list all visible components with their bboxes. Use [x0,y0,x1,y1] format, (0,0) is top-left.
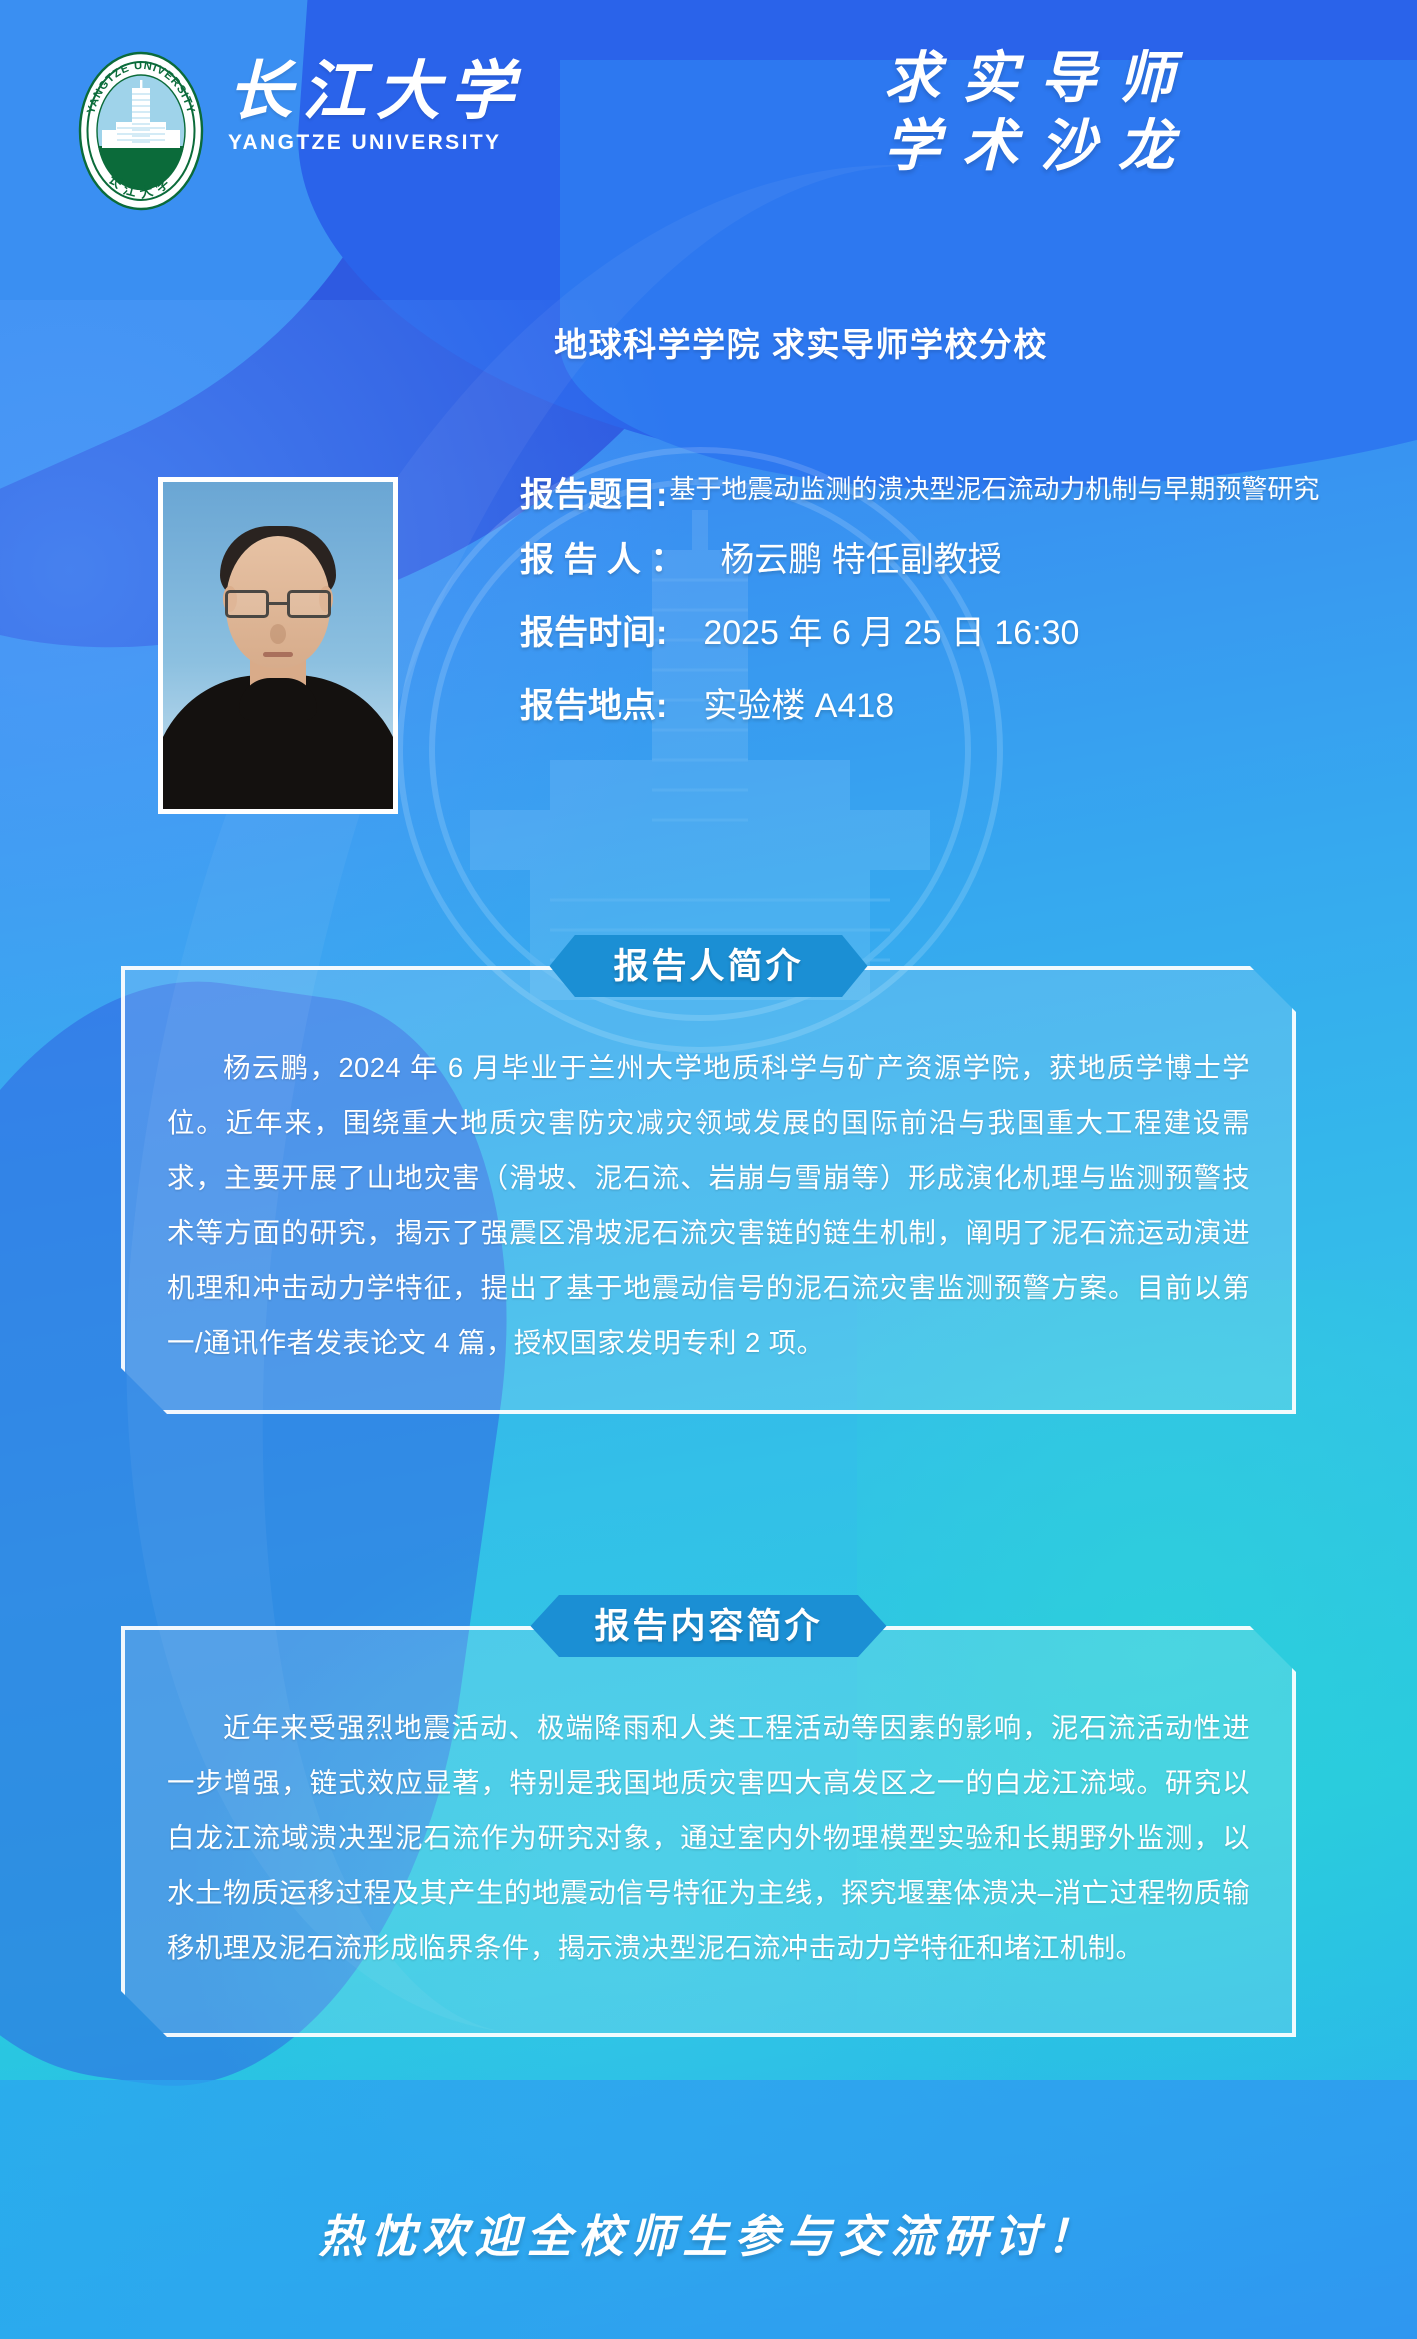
section-banner-speaker-bio: 报告人简介 [549,935,867,997]
portrait-mouth [263,652,293,657]
talk-title-label: 报告题目: [520,470,667,521]
time-label: 报告时间: [520,608,667,659]
poster-root: Y [0,0,1417,2339]
speaker-bio-text: 杨云鹏，2024 年 6 月毕业于兰州大学地质科学与矿产资源学院，获地质学博士学… [167,1040,1250,1370]
info-row-place: 报告地点: 实验楼 A418 [520,681,1380,732]
portrait-nose [270,624,286,644]
info-row-title: 报告题目: 基于地震动监测的溃决型泥石流动力机制与早期预警研究 [520,470,1380,521]
talk-info-block: 报告题目: 基于地震动监测的溃决型泥石流动力机制与早期预警研究 报 告 人 ： … [520,470,1380,754]
university-seal-icon: YANGTZE UNIVERSITY 长江大学 [76,50,206,212]
place-label: 报告地点: [520,681,667,732]
school-name-block: 长江大学 YANGTZE UNIVERSITY [228,58,588,155]
section-speaker-bio: 报告人简介 杨云鹏，2024 年 6 月毕业于兰州大学地质科学与矿产资源学院，获… [0,935,1417,1414]
talk-abstract-text: 近年来受强烈地震活动、极端降雨和人类工程活动等因素的影响，泥石流活动性进一步增强… [167,1700,1250,1975]
panel-speaker-bio: 杨云鹏，2024 年 6 月毕业于兰州大学地质科学与矿产资源学院，获地质学博士学… [121,966,1296,1414]
portrait-collar [239,678,317,720]
info-row-time: 报告时间: 2025 年 6 月 25 日 16:30 [520,608,1380,659]
section-talk-abstract: 报告内容简介 近年来受强烈地震活动、极端降雨和人类工程活动等因素的影响，泥石流活… [0,1595,1417,2037]
poster-header: YANGTZE UNIVERSITY 长江大学 长江大学 YANGTZE UNI… [0,0,1417,300]
talk-title-value: 基于地震动监测的溃决型泥石流动力机制与早期预警研究 [667,470,1319,506]
speaker-label: 报 告 人 ： [520,535,684,586]
section-banner-talk-abstract: 报告内容简介 [530,1595,886,1657]
info-row-speaker: 报 告 人 ： 杨云鹏 特任副教授 [520,535,1380,586]
speaker-value: 杨云鹏 特任副教授 [684,535,1001,586]
school-name-en: YANGTZE UNIVERSITY [228,131,588,155]
place-value: 实验楼 A418 [667,681,894,732]
salon-title-block: 求实导师 学术沙龙 [840,44,1240,181]
salon-title-line2: 学术沙龙 [840,112,1240,180]
poster-footer-invite: 热忱欢迎全校师生参与交流研讨！ [0,2200,1417,2265]
school-name-cn: 长江大学 [228,58,588,125]
time-value: 2025 年 6 月 25 日 16:30 [667,608,1079,659]
panel-talk-abstract: 近年来受强烈地震活动、极端降雨和人类工程活动等因素的影响，泥石流活动性进一步增强… [121,1626,1296,2037]
poster-subtitle: 地球科学学院 求实导师学校分校 [0,318,1417,366]
salon-title-line1: 求实导师 [840,44,1240,112]
speaker-portrait [158,477,398,814]
portrait-glasses-icon [225,590,331,620]
